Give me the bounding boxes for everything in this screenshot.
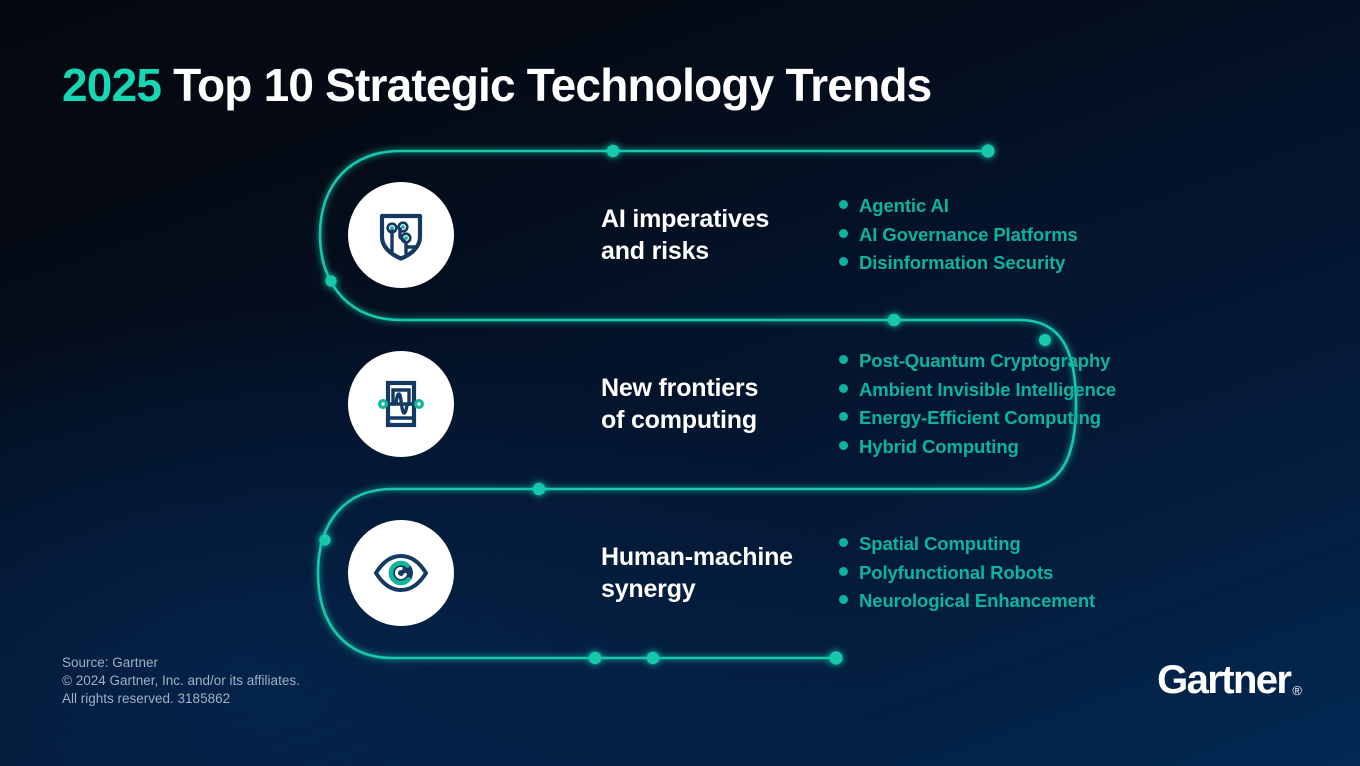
section-heading-new-frontiers: New frontiers of computing bbox=[601, 372, 831, 437]
gartner-logo: Gartner® bbox=[1157, 660, 1302, 700]
trend-label: Polyfunctional Robots bbox=[859, 564, 1053, 583]
trend-row-human-machine: Human-machine synergy Spatial Computing … bbox=[348, 520, 1095, 626]
footer-copyright: © 2024 Gartner, Inc. and/or its affiliat… bbox=[62, 672, 300, 690]
page-title: 2025 Top 10 Strategic Technology Trends bbox=[62, 58, 931, 112]
trend-label: Hybrid Computing bbox=[859, 438, 1019, 457]
title-year: 2025 bbox=[62, 59, 161, 111]
quantum-chip-icon bbox=[373, 376, 429, 432]
trend-row-new-frontiers: New frontiers of computing Post-Quantum … bbox=[348, 351, 1116, 457]
bullet-dot-icon bbox=[839, 257, 848, 266]
trend-item[interactable]: Polyfunctional Robots bbox=[839, 564, 1095, 583]
badge-new-frontiers[interactable] bbox=[348, 351, 454, 457]
bullet-dot-icon bbox=[839, 412, 848, 421]
bullet-dot-icon bbox=[839, 441, 848, 450]
bullet-dot-icon bbox=[839, 538, 848, 547]
badge-human-machine[interactable] bbox=[348, 520, 454, 626]
slide-canvas: 2025 Top 10 Strategic Technology Trends bbox=[0, 0, 1360, 766]
trend-item[interactable]: AI Governance Platforms bbox=[839, 226, 1078, 245]
trend-label: Agentic AI bbox=[859, 197, 949, 216]
trend-item[interactable]: Ambient Invisible Intelligence bbox=[839, 381, 1116, 400]
trend-item[interactable]: Post-Quantum Cryptography bbox=[839, 352, 1116, 371]
trend-item[interactable]: Agentic AI bbox=[839, 197, 1078, 216]
trend-item[interactable]: Spatial Computing bbox=[839, 535, 1095, 554]
section-heading-human-machine: Human-machine synergy bbox=[601, 541, 831, 606]
footer-rights: All rights reserved. 3185862 bbox=[62, 690, 300, 708]
trend-item[interactable]: Disinformation Security bbox=[839, 254, 1078, 273]
bullet-dot-icon bbox=[839, 355, 848, 364]
registered-trademark-icon: ® bbox=[1292, 684, 1302, 697]
bullet-dot-icon bbox=[839, 567, 848, 576]
trend-label: Spatial Computing bbox=[859, 535, 1021, 554]
shield-circuit-icon bbox=[373, 207, 429, 263]
footer-attribution: Source: Gartner © 2024 Gartner, Inc. and… bbox=[62, 654, 300, 707]
title-rest: Top 10 Strategic Technology Trends bbox=[161, 59, 931, 111]
bullet-dot-icon bbox=[839, 384, 848, 393]
badge-ai-imperatives[interactable] bbox=[348, 182, 454, 288]
trend-label: Neurological Enhancement bbox=[859, 592, 1095, 611]
trend-label: Ambient Invisible Intelligence bbox=[859, 381, 1116, 400]
trend-list-ai-imperatives: Agentic AI AI Governance Platforms Disin… bbox=[839, 197, 1078, 273]
trend-list-human-machine: Spatial Computing Polyfunctional Robots … bbox=[839, 535, 1095, 611]
footer-source: Source: Gartner bbox=[62, 654, 300, 672]
bullet-dot-icon bbox=[839, 229, 848, 238]
trend-label: Disinformation Security bbox=[859, 254, 1065, 273]
trend-item[interactable]: Neurological Enhancement bbox=[839, 592, 1095, 611]
trend-label: Post-Quantum Cryptography bbox=[859, 352, 1110, 371]
trend-list-new-frontiers: Post-Quantum Cryptography Ambient Invisi… bbox=[839, 352, 1116, 456]
eye-vision-icon bbox=[373, 545, 429, 601]
trend-item[interactable]: Hybrid Computing bbox=[839, 438, 1116, 457]
trend-label: AI Governance Platforms bbox=[859, 226, 1078, 245]
trend-label: Energy-Efficient Computing bbox=[859, 409, 1101, 428]
trend-item[interactable]: Energy-Efficient Computing bbox=[839, 409, 1116, 428]
bullet-dot-icon bbox=[839, 595, 848, 604]
section-heading-ai-imperatives: AI imperatives and risks bbox=[601, 203, 831, 268]
bullet-dot-icon bbox=[839, 200, 848, 209]
logo-wordmark: Gartner bbox=[1157, 660, 1290, 700]
trend-row-ai-imperatives: AI imperatives and risks Agentic AI AI G… bbox=[348, 182, 1078, 288]
